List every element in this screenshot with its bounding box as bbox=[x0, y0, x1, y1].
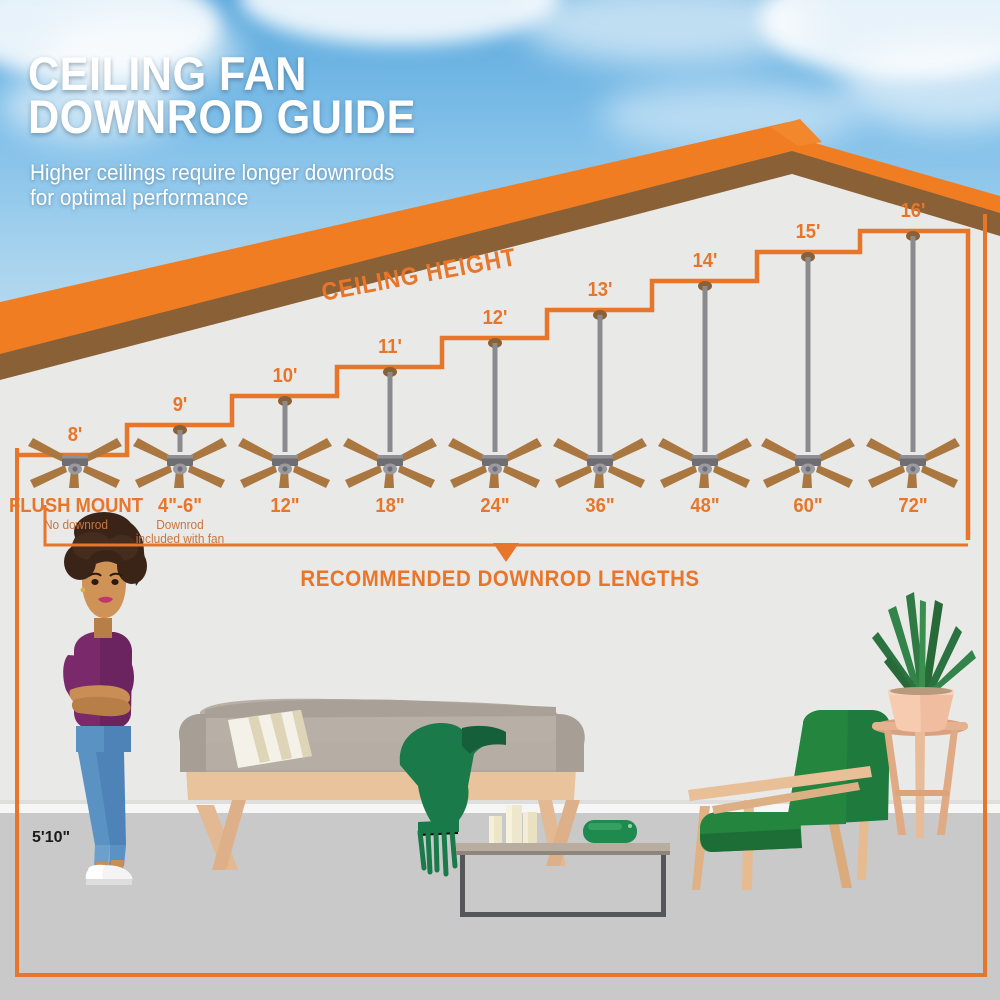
downrod-label-15ft: 60" bbox=[792, 495, 824, 518]
fan-mount-11ft bbox=[383, 367, 397, 452]
downrod-note: Downrod included with fan bbox=[136, 519, 224, 546]
infographic-canvas: CEILING FANDOWNROD GUIDE Higher ceilings… bbox=[0, 0, 1000, 1000]
downrod-length: 72" bbox=[898, 495, 927, 518]
fan-mount-10ft bbox=[278, 396, 292, 452]
downrod-note: No downrod bbox=[7, 519, 145, 533]
fan-mount-13ft bbox=[593, 310, 607, 452]
ceiling-height-10: 10' bbox=[273, 365, 298, 388]
fan-mount-15ft bbox=[801, 252, 815, 452]
fan-mount-16ft bbox=[906, 231, 920, 452]
ceiling-height-15: 15' bbox=[796, 221, 821, 244]
downrod-length: 12" bbox=[270, 495, 299, 518]
downrod-length: FLUSH MOUNT bbox=[9, 495, 143, 518]
ceiling-height-9: 9' bbox=[173, 394, 188, 417]
fan-mount-14ft bbox=[698, 281, 712, 452]
downrod-label-9ft: 4"-6" Downrod included with fan bbox=[133, 495, 226, 546]
title-line-2: DOWNROD GUIDE bbox=[28, 90, 416, 143]
fan-mount-12ft bbox=[488, 338, 502, 452]
downrod-length: 36" bbox=[585, 495, 614, 518]
downrod-label-14ft: 48" bbox=[689, 495, 721, 518]
downrod-label-16ft: 72" bbox=[897, 495, 929, 518]
downrod-label-13ft: 36" bbox=[584, 495, 616, 518]
subtitle-line-1: Higher ceilings require longer downrods bbox=[30, 160, 394, 185]
ceiling-height-8: 8' bbox=[68, 424, 83, 447]
ceiling-height-16: 16' bbox=[901, 200, 926, 223]
page-title: CEILING FANDOWNROD GUIDE bbox=[28, 52, 416, 138]
downrod-length: 4"-6" bbox=[137, 495, 223, 518]
ceiling-height-14: 14' bbox=[693, 250, 718, 273]
downrod-label-11ft: 18" bbox=[374, 495, 406, 518]
downrod-label-12ft: 24" bbox=[479, 495, 511, 518]
downrod-label-10ft: 12" bbox=[269, 495, 301, 518]
ceiling-height-12: 12' bbox=[483, 307, 508, 330]
downrod-length: 18" bbox=[375, 495, 404, 518]
recommended-downrod-lengths-label: RECOMMENDED DOWNROD LENGTHS bbox=[35, 566, 965, 592]
downrod-length: 60" bbox=[793, 495, 822, 518]
page-subtitle: Higher ceilings require longer downrodsf… bbox=[30, 160, 394, 210]
person-height-label: 5'10" bbox=[32, 829, 70, 847]
downrod-arrow-icon bbox=[493, 543, 519, 562]
downrod-label-8ft: FLUSH MOUNT No downrod bbox=[3, 495, 149, 533]
fan-mount-9ft bbox=[173, 425, 187, 452]
subtitle-line-2: for optimal performance bbox=[30, 185, 248, 210]
downrod-length: 24" bbox=[480, 495, 509, 518]
downrod-length: 48" bbox=[690, 495, 719, 518]
ceiling-height-13: 13' bbox=[588, 279, 613, 302]
ceiling-height-11: 11' bbox=[378, 336, 402, 359]
